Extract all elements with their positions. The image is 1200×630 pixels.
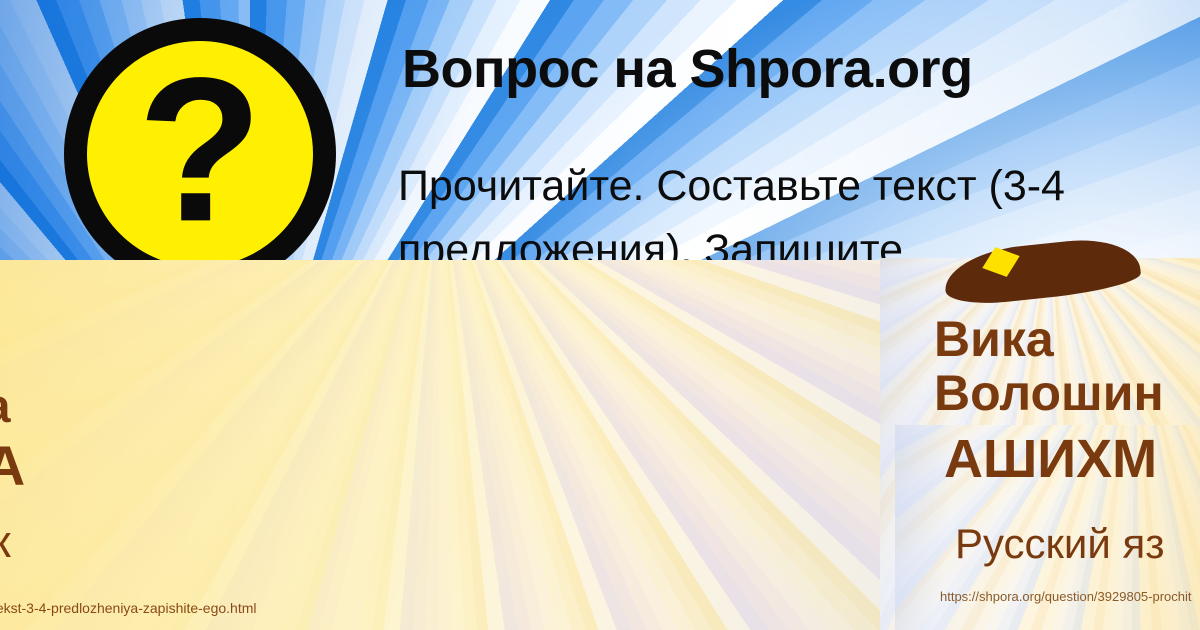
left-card-url: ayte-sostavte-tekst-3-4-predlozheniya-za… [0, 601, 257, 615]
page-title: Вопрос на Shpora.org [402, 42, 973, 96]
overlay-card-left [0, 260, 880, 630]
right-card-name-line2: Волошин [934, 368, 1164, 418]
left-card-name-line2: ИНА [0, 438, 25, 494]
left-card-subject: зык [0, 519, 11, 564]
right-card-subject: Русский яз [955, 523, 1165, 565]
right-card-url: https://shpora.org/question/3929805-proc… [940, 590, 1192, 603]
screenshot-canvas: ? Вопрос на Shpora.org Прочитайте. Соста… [0, 0, 1200, 630]
right-card-name-line3: АШИХМ [944, 432, 1157, 486]
question-mark-icon: ? [64, 18, 336, 290]
left-card-name-line1: на [0, 382, 11, 429]
question-mark-glyph: ? [87, 62, 313, 238]
right-card-name-line1: Вика [934, 314, 1054, 364]
overlay-card-left-wash [0, 260, 880, 630]
